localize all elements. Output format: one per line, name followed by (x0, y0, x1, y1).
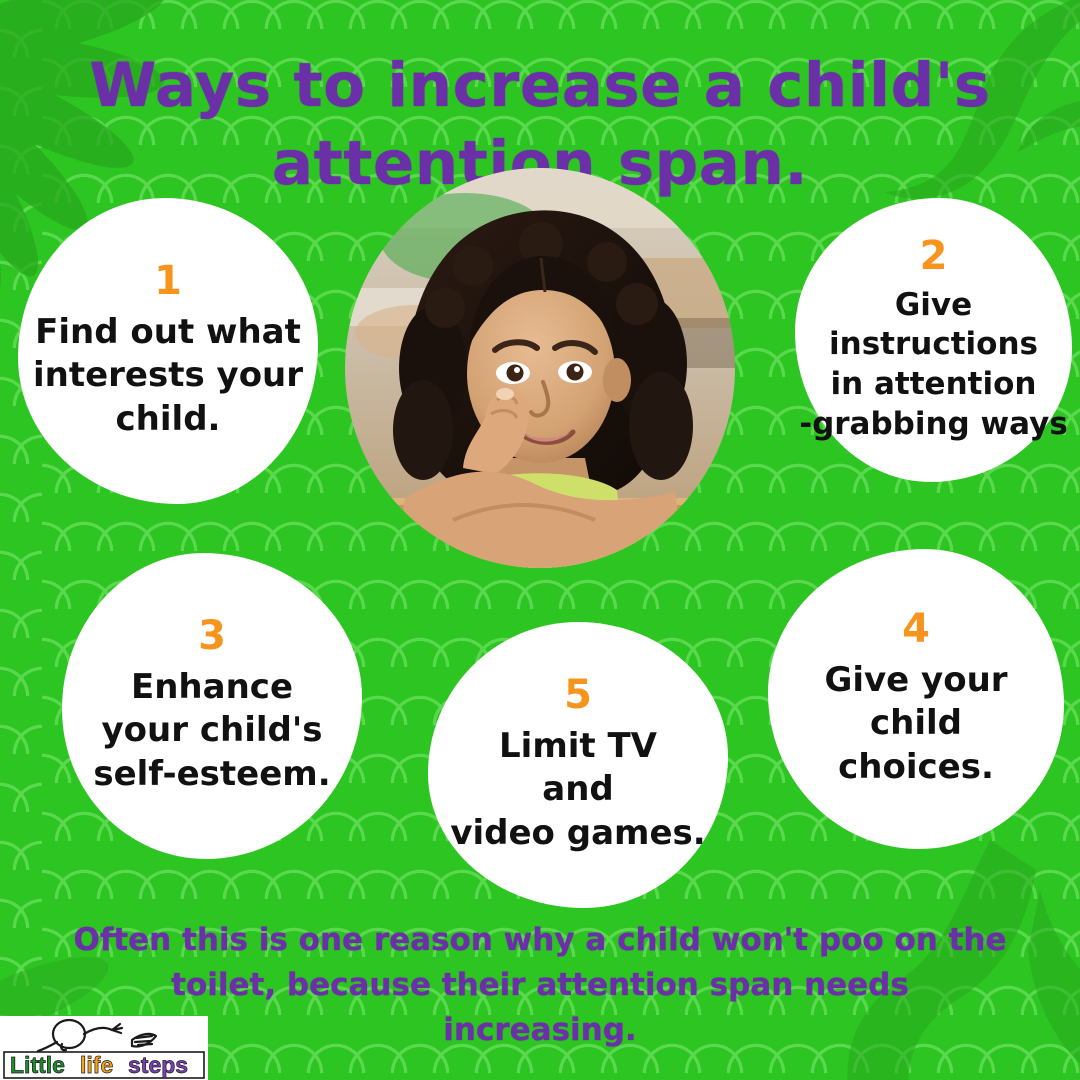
tip-number-2: 2 (920, 236, 948, 276)
child-photo (345, 168, 735, 568)
tip-bubble-1[interactable]: 1 Find out what interests your child. (18, 198, 318, 504)
tip-text-5: Limit TV and video games. (450, 725, 705, 856)
tip-text-3: Enhance your child's self-esteem. (93, 666, 330, 797)
logo-word-steps: steps (128, 1052, 188, 1078)
tip-number-1: 1 (154, 261, 182, 301)
tip-text-2: Give instructions in attention -grabbing… (799, 286, 1068, 445)
tip-bubble-5[interactable]: 5 Limit TV and video games. (428, 622, 728, 908)
brand-logo[interactable]: Little life steps (0, 1016, 208, 1080)
logo-word-little: Little (10, 1052, 65, 1078)
title-line-1: Ways to increase a child's (89, 50, 991, 121)
tip-number-5: 5 (564, 675, 592, 715)
tip-number-4: 4 (902, 609, 930, 649)
tip-bubble-2[interactable]: 2 Give instructions in attention -grabbi… (795, 198, 1072, 482)
tip-text-1: Find out what interests your child. (33, 311, 303, 442)
footer-note: Often this is one reason why a child won… (70, 918, 1010, 1053)
logo-word-life: life (80, 1052, 113, 1078)
infographic-poster: Ways to increase a child's attention spa… (0, 0, 1080, 1080)
tip-number-3: 3 (198, 616, 226, 656)
tip-bubble-4[interactable]: 4 Give your child choices. (768, 549, 1064, 849)
tip-text-4: Give your child choices. (824, 659, 1007, 790)
